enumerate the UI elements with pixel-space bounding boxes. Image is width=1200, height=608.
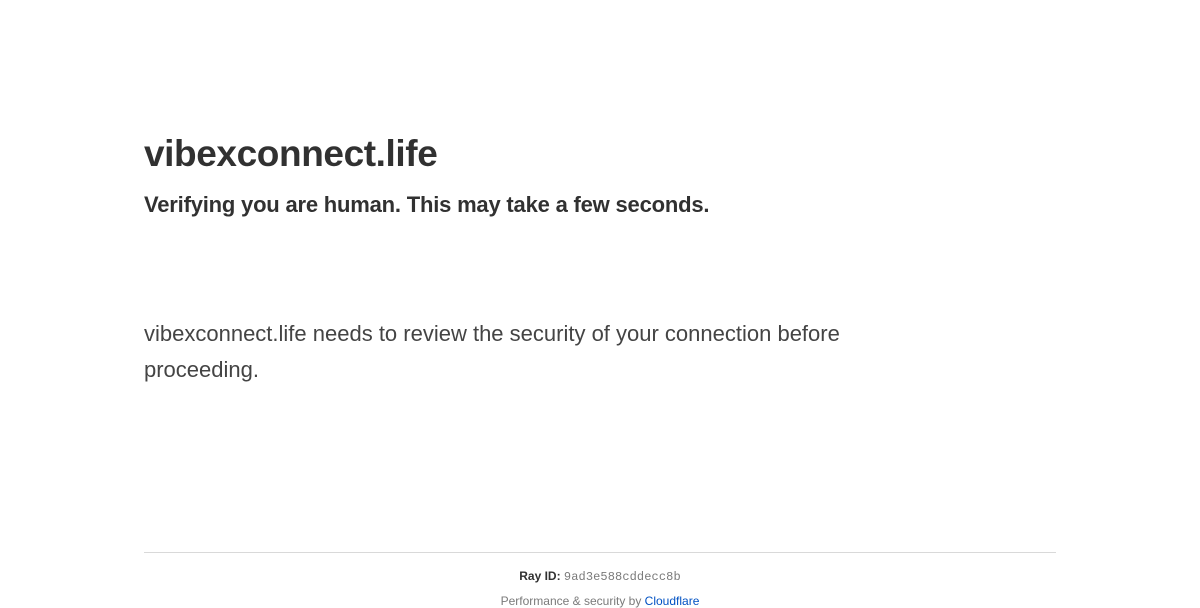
page-title: vibexconnect.life bbox=[144, 0, 1056, 177]
verification-status-text: Verifying you are human. This may take a… bbox=[144, 177, 1056, 220]
performance-credit-row: Performance & security by Cloudflare bbox=[144, 584, 1056, 608]
challenge-widget-placeholder[interactable] bbox=[144, 220, 1056, 316]
ray-id-label: Ray ID: bbox=[519, 569, 560, 583]
performance-credit-label: Performance & security by bbox=[501, 594, 642, 608]
cloudflare-link[interactable]: Cloudflare bbox=[645, 594, 700, 608]
ray-id-value: 9ad3e588cddecc8b bbox=[564, 570, 681, 584]
ray-id-row: Ray ID: 9ad3e588cddecc8b bbox=[144, 569, 1056, 584]
challenge-explainer-text: vibexconnect.life needs to review the se… bbox=[144, 316, 944, 388]
challenge-page: vibexconnect.life Verifying you are huma… bbox=[0, 0, 1200, 600]
challenge-content: vibexconnect.life Verifying you are huma… bbox=[144, 0, 1056, 388]
